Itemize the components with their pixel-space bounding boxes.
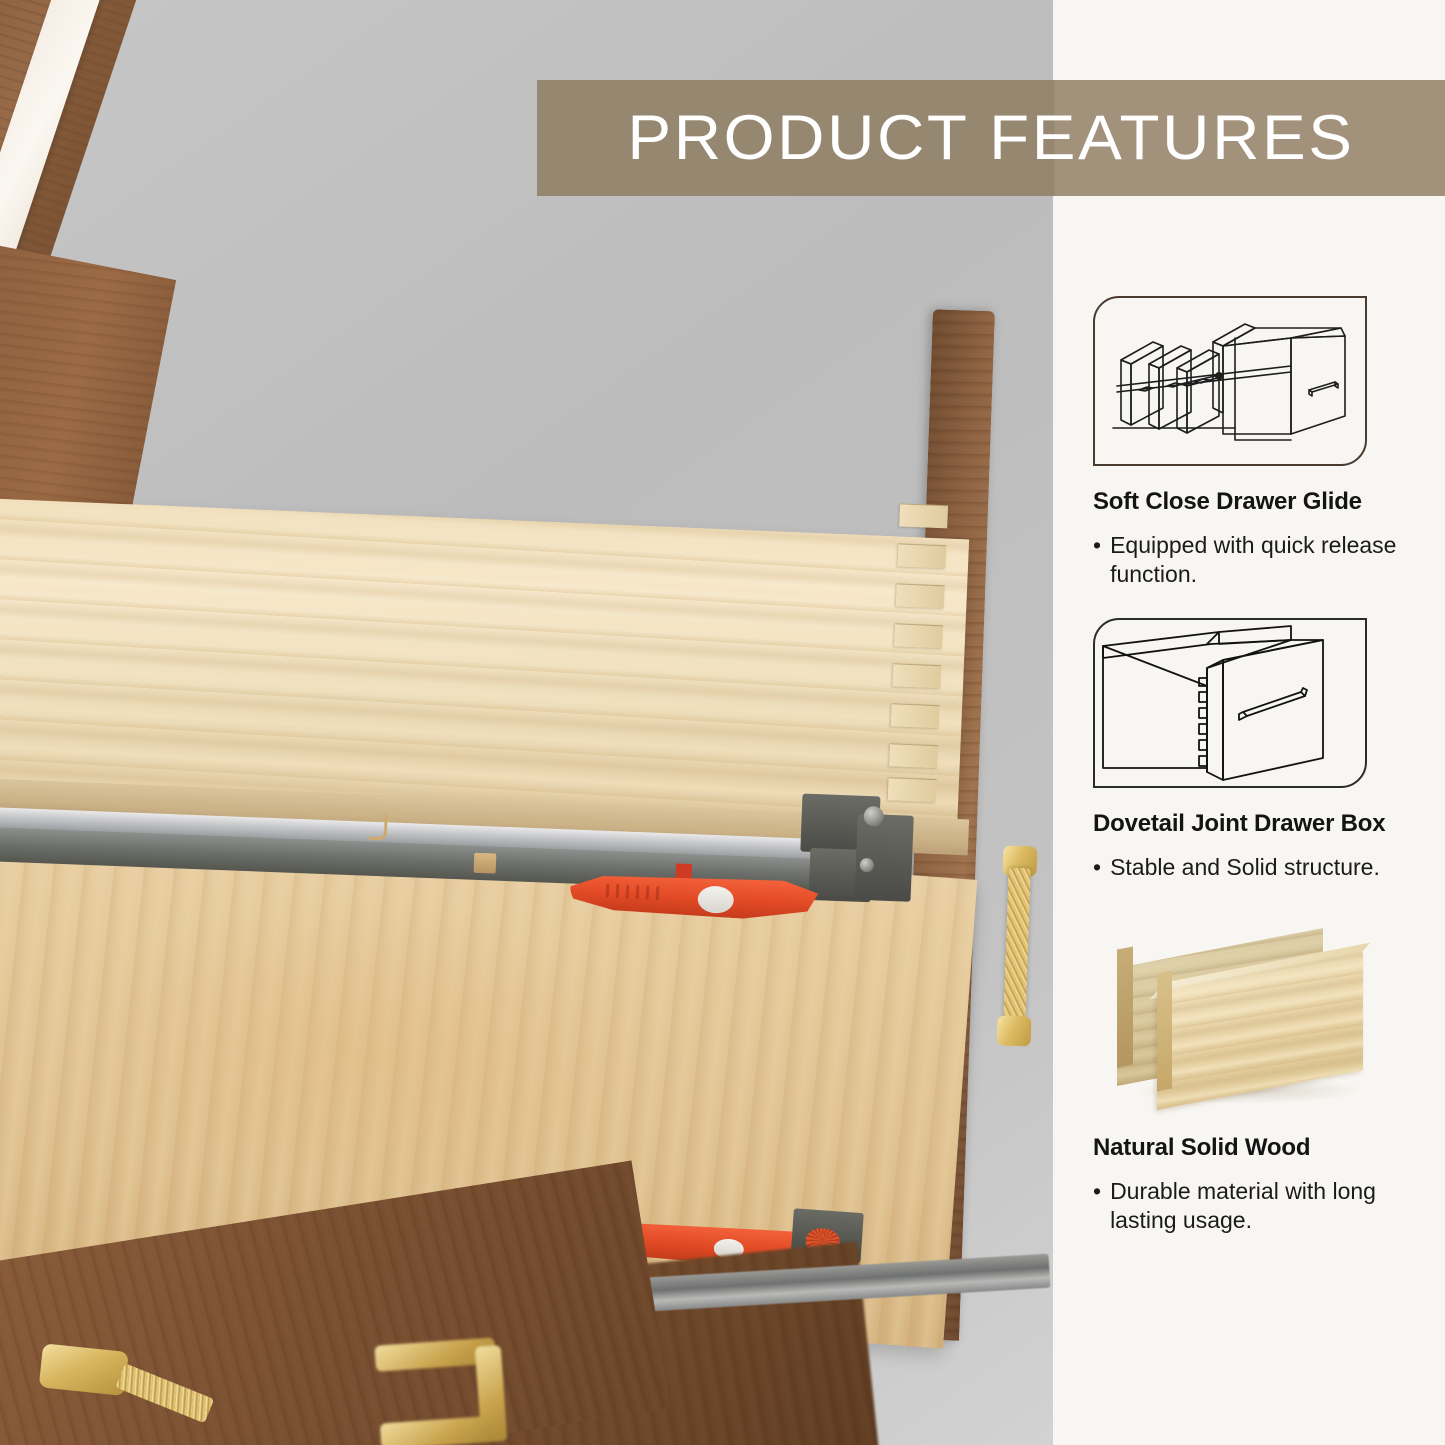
- bullet-dot: •: [1093, 853, 1101, 882]
- bullet-dot: •: [1093, 531, 1101, 560]
- feature-item-natural-solid-wood: Natural Solid Wood • Durable material wi…: [1093, 928, 1413, 1235]
- product-photo: [0, 0, 1053, 1445]
- feature-bullet-text: Equipped with quick release function.: [1110, 531, 1413, 589]
- dovetail-joint-fingers: [874, 499, 949, 801]
- feature-title: Dovetail Joint Drawer Box: [1093, 810, 1413, 839]
- feature-bullet: • Durable material with long lasting usa…: [1093, 1177, 1413, 1235]
- feature-bullet-text: Durable material with long lasting usage…: [1110, 1177, 1413, 1235]
- bullet-dot: •: [1093, 1177, 1101, 1206]
- soft-close-drawer-glide-icon: [1093, 296, 1367, 466]
- feature-item-soft-close-drawer-glide: Soft Close Drawer Glide • Equipped with …: [1093, 296, 1413, 589]
- infographic-canvas: PRODUCT FEATURES: [0, 0, 1445, 1445]
- dovetail-joint-drawer-box-icon: [1093, 618, 1367, 788]
- brass-pull-background: [374, 1330, 601, 1445]
- feature-title: Soft Close Drawer Glide: [1093, 488, 1413, 517]
- feature-bullet-text: Stable and Solid structure.: [1110, 853, 1380, 882]
- title-banner: PRODUCT FEATURES: [537, 80, 1445, 196]
- feature-item-dovetail-joint-drawer-box: Dovetail Joint Drawer Box • Stable and S…: [1093, 618, 1413, 882]
- feature-bullet: • Stable and Solid structure.: [1093, 853, 1413, 882]
- feature-title: Natural Solid Wood: [1093, 1134, 1413, 1163]
- natural-solid-wood-planks-icon: [1093, 928, 1383, 1108]
- feature-bullet: • Equipped with quick release function.: [1093, 531, 1413, 589]
- upper-soft-close-mechanism: [798, 794, 933, 929]
- page-title: PRODUCT FEATURES: [519, 80, 1445, 196]
- brass-drawer-handle: [997, 845, 1038, 1046]
